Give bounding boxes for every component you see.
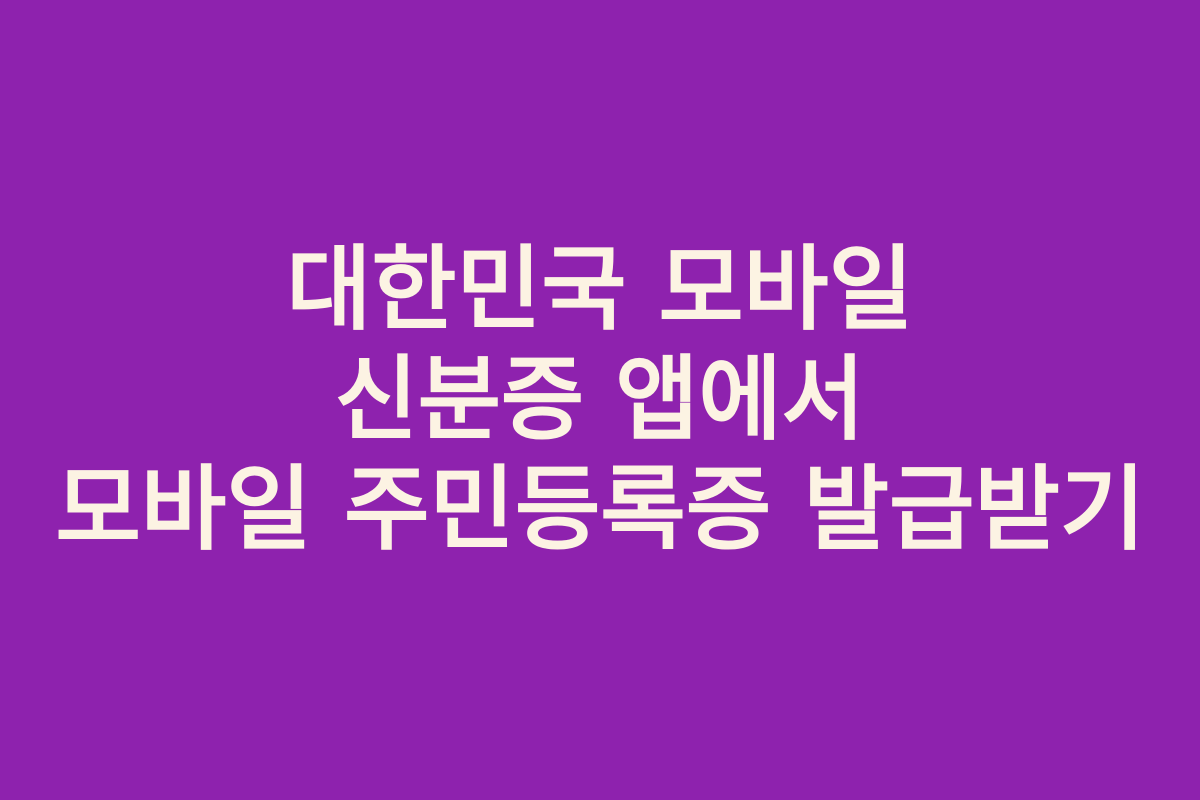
headline-line-1: 대한민국 모바일 — [287, 235, 914, 345]
headline-line-2: 신분증 앱에서 — [335, 345, 865, 455]
headline-block: 대한민국 모바일 신분증 앱에서 모바일 주민등록증 발급받기 — [0, 235, 1200, 565]
headline-line-3: 모바일 주민등록증 발급받기 — [55, 455, 1145, 565]
title-card: 대한민국 모바일 신분증 앱에서 모바일 주민등록증 발급받기 — [0, 0, 1200, 800]
